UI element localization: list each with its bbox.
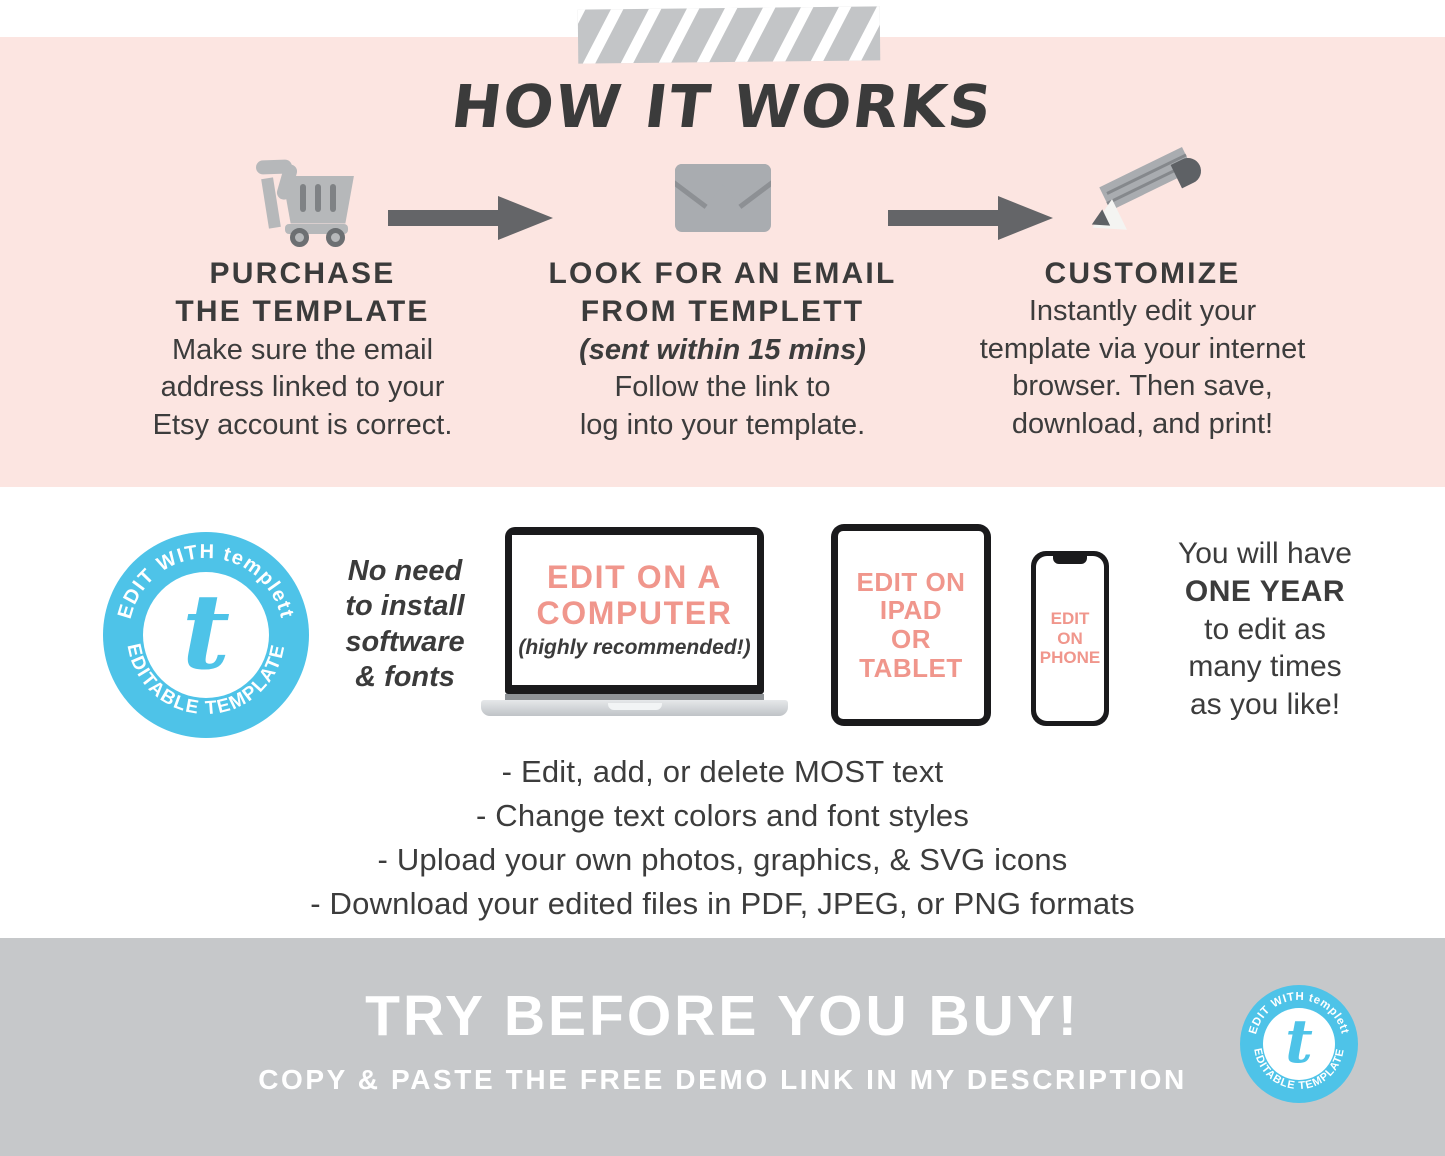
phone-heading: EDIT ON PHONE	[1040, 609, 1100, 668]
list-item: - Download your edited files in PDF, JPE…	[0, 882, 1445, 926]
svg-text:EDITABLE TEMPLATE: EDITABLE TEMPLATE	[1251, 1047, 1347, 1092]
step-heading: CUSTOMIZE	[933, 255, 1353, 293]
step-heading: LOOK FOR AN EMAIL FROM TEMPLETT	[513, 255, 933, 332]
step-italic-note: (sent within 15 mins)	[513, 332, 933, 369]
footer-subline: COPY & PASTE THE FREE DEMO LINK IN MY DE…	[0, 1064, 1445, 1096]
infographic-page: HOW IT WORKS	[0, 0, 1445, 1156]
templett-badge-small: EDIT WITH templett EDITABLE TEMPLATE t	[1240, 985, 1358, 1103]
step-customize: CUSTOMIZE Instantly edit your template v…	[933, 140, 1353, 443]
laptop-subtitle: (highly recommended!)	[518, 636, 750, 660]
page-title: HOW IT WORKS	[0, 72, 1445, 141]
svg-text:EDIT WITH templett: EDIT WITH templett	[1247, 991, 1351, 1036]
steps-row: PURCHASE THE TEMPLATE Make sure the emai…	[0, 140, 1445, 470]
tablet-heading: EDIT ON IPAD OR TABLET	[857, 568, 966, 682]
washi-tape-icon	[578, 6, 881, 63]
tablet-screen: EDIT ON IPAD OR TABLET	[838, 531, 984, 719]
laptop-device: EDIT ON A COMPUTER (highly recommended!)	[481, 527, 788, 722]
step-purchase: PURCHASE THE TEMPLATE Make sure the emai…	[93, 140, 513, 444]
feature-list: - Edit, add, or delete MOST text - Chang…	[0, 750, 1445, 926]
envelope-icon	[513, 140, 933, 255]
svg-text:EDIT WITH templett: EDIT WITH templett	[114, 541, 298, 621]
phone-screen: EDIT ON PHONE	[1036, 556, 1104, 721]
templett-badge-large: EDIT WITH templett EDITABLE TEMPLATE t	[103, 532, 309, 738]
list-item: - Change text colors and font styles	[0, 794, 1445, 838]
laptop-lid: EDIT ON A COMPUTER (highly recommended!)	[505, 527, 764, 694]
step-body: Follow the link to log into your templat…	[513, 369, 933, 444]
step-body: Make sure the email address linked to yo…	[93, 332, 513, 444]
laptop-trackpad-notch	[608, 703, 662, 710]
svg-text:EDITABLE TEMPLATE: EDITABLE TEMPLATE	[122, 642, 289, 719]
one-year-text: You will have ONE YEAR to edit as many t…	[1120, 535, 1410, 724]
tablet-device: EDIT ON IPAD OR TABLET	[831, 524, 991, 726]
laptop-heading: EDIT ON A COMPUTER	[537, 560, 733, 632]
phone-notch	[1053, 556, 1087, 564]
phone-device: EDIT ON PHONE	[1031, 551, 1109, 726]
footer-headline: TRY BEFORE YOU BUY!	[0, 983, 1445, 1049]
laptop-screen: EDIT ON A COMPUTER (highly recommended!)	[512, 535, 757, 685]
one-year-emphasis: ONE YEAR	[1185, 575, 1345, 608]
shopping-cart-icon	[93, 140, 513, 255]
no-need-text: No need to install software & fonts	[330, 554, 480, 696]
badge-arc-text: EDIT WITH templett EDITABLE TEMPLATE	[103, 532, 309, 738]
step-body: Instantly edit your template via your in…	[933, 293, 1353, 443]
try-before-you-buy-banner: TRY BEFORE YOU BUY! COPY & PASTE THE FRE…	[0, 938, 1445, 1156]
pencil-icon	[933, 140, 1353, 255]
badge-arc-text-small: EDIT WITH templett EDITABLE TEMPLATE	[1240, 985, 1358, 1103]
step-look-for-email: LOOK FOR AN EMAIL FROM TEMPLETT (sent wi…	[513, 140, 933, 444]
list-item: - Edit, add, or delete MOST text	[0, 750, 1445, 794]
step-heading: PURCHASE THE TEMPLATE	[93, 255, 513, 332]
list-item: - Upload your own photos, graphics, & SV…	[0, 838, 1445, 882]
